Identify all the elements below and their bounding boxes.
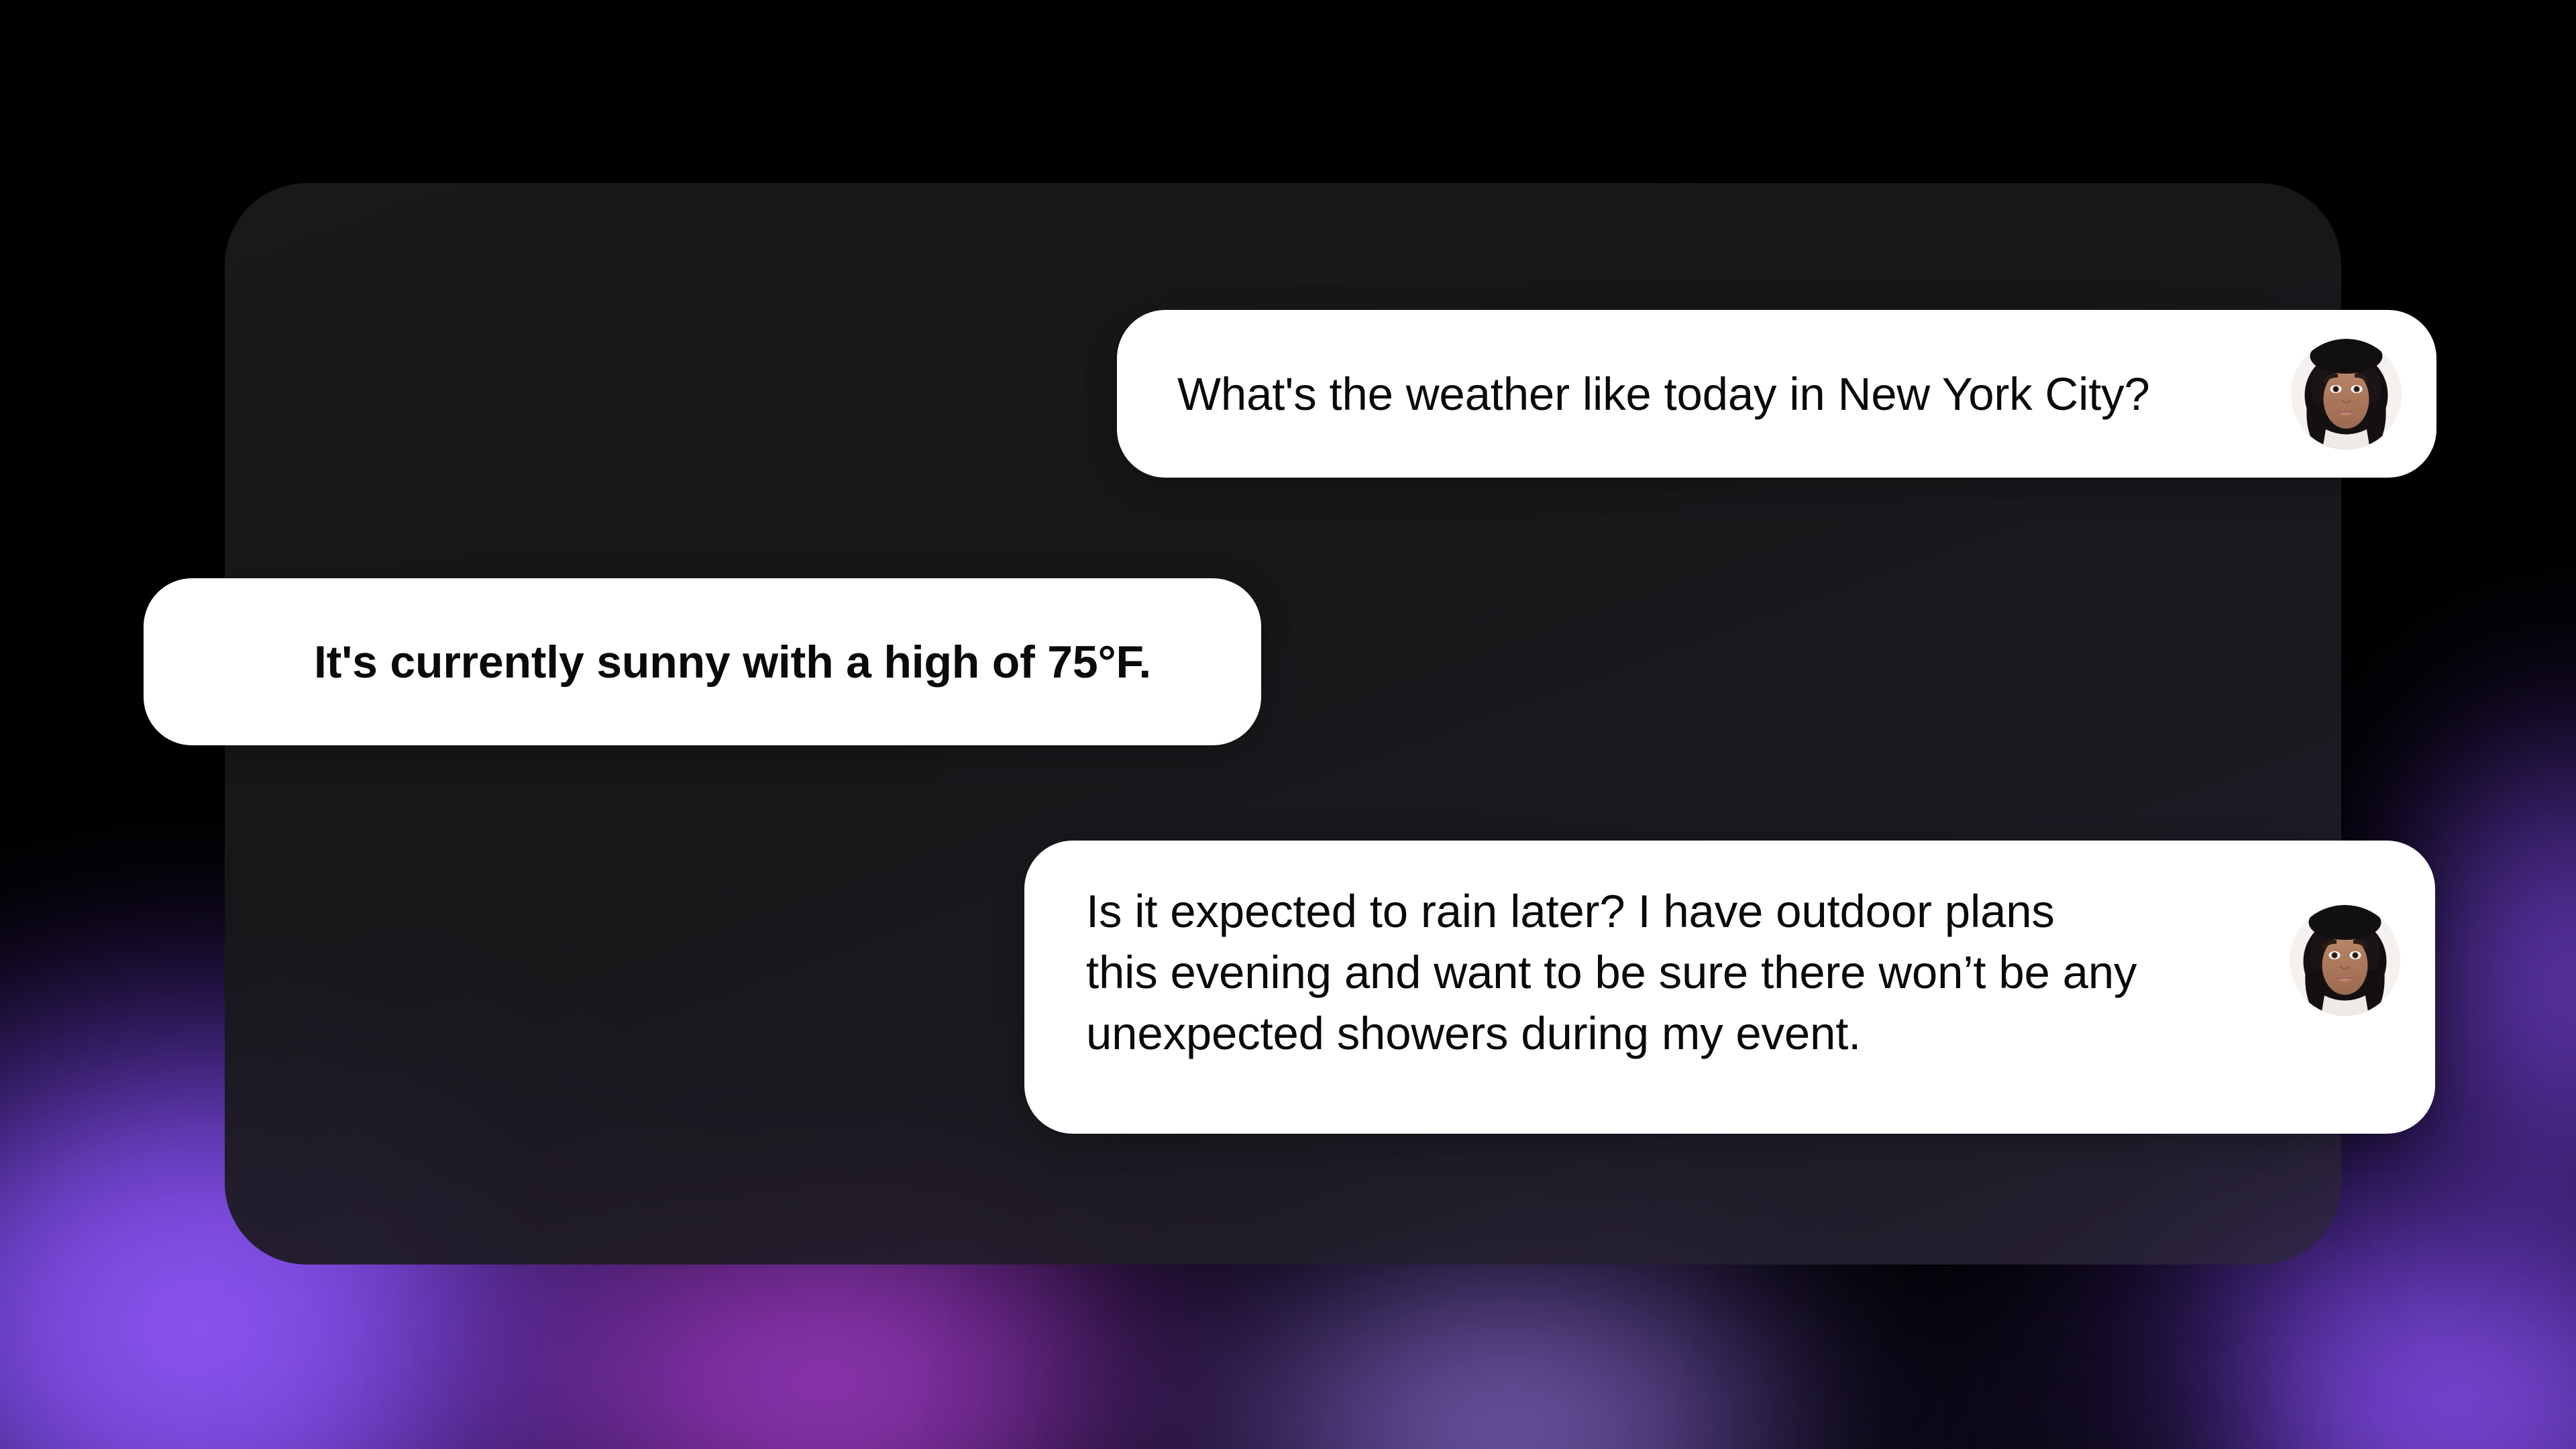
screenshot-stage: What's the weather like today in New Yor… xyxy=(0,0,2576,1449)
assistant-avatar xyxy=(176,608,284,716)
script-x-glyph xyxy=(210,644,250,680)
message-text: What's the weather like today in New Yor… xyxy=(1177,371,2261,417)
message-bubble-assistant-1[interactable]: It's currently sunny with a high of 75°F… xyxy=(144,578,1261,745)
message-bubble-user-1[interactable]: What's the weather like today in New Yor… xyxy=(1117,310,2436,478)
message-text: Is it expected to rain later? I have out… xyxy=(1086,881,2267,1064)
message-bubble-user-2[interactable]: Is it expected to rain later? I have out… xyxy=(1024,841,2435,1134)
message-text: It's currently sunny with a high of 75°F… xyxy=(314,639,1201,685)
user-avatar xyxy=(2291,339,2402,449)
user-avatar xyxy=(2290,905,2400,1016)
